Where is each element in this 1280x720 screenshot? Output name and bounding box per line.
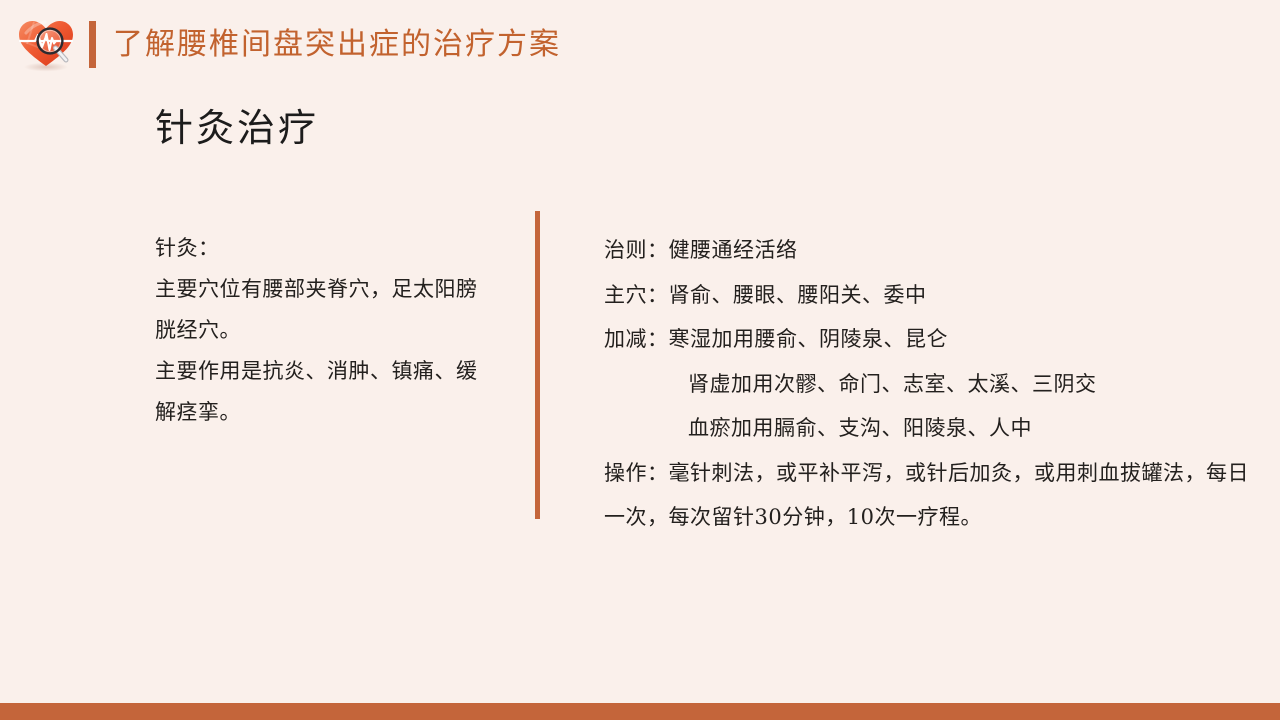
heart-magnifier-icon <box>14 14 78 72</box>
header-accent-bar <box>89 21 96 68</box>
modification-line-1: 加减：寒湿加用腰俞、阴陵泉、昆仑 <box>604 317 1264 362</box>
left-content-column: 针灸： 主要穴位有腰部夹脊穴，足太阳膀胱经穴。 主要作用是抗炎、消肿、镇痛、缓解… <box>155 228 485 433</box>
treatment-principle-line: 治则：健腰通经活络 <box>604 228 1264 273</box>
main-acupoints-line: 主穴：肾俞、腰眼、腰阳关、委中 <box>604 273 1264 318</box>
column-divider <box>535 211 540 519</box>
header-title: 了解腰椎间盘突出症的治疗方案 <box>113 22 561 68</box>
left-column-label: 针灸： <box>155 228 485 269</box>
modification-line-3: 血瘀加用膈俞、支沟、阳陵泉、人中 <box>604 406 1264 451</box>
modification-line-2: 肾虚加用次髎、命门、志室、太溪、三阴交 <box>604 362 1264 407</box>
footer-accent-bar <box>0 703 1280 720</box>
slide-header: 了解腰椎间盘突出症的治疗方案 <box>0 0 1280 90</box>
operation-line: 操作：毫针刺法，或平补平泻，或针后加灸，或用刺血拔罐法，每日一次，每次留针30分… <box>604 451 1264 540</box>
slide-canvas: 了解腰椎间盘突出症的治疗方案 针灸治疗 针灸： 主要穴位有腰部夹脊穴，足太阳膀胱… <box>0 0 1280 720</box>
right-content-column: 治则：健腰通经活络 主穴：肾俞、腰眼、腰阳关、委中 加减：寒湿加用腰俞、阴陵泉、… <box>604 228 1264 540</box>
left-column-paragraph-1: 主要穴位有腰部夹脊穴，足太阳膀胱经穴。 <box>155 269 485 351</box>
left-column-paragraph-2: 主要作用是抗炎、消肿、镇痛、缓解痉挛。 <box>155 351 485 433</box>
page-title: 针灸治疗 <box>155 101 319 155</box>
